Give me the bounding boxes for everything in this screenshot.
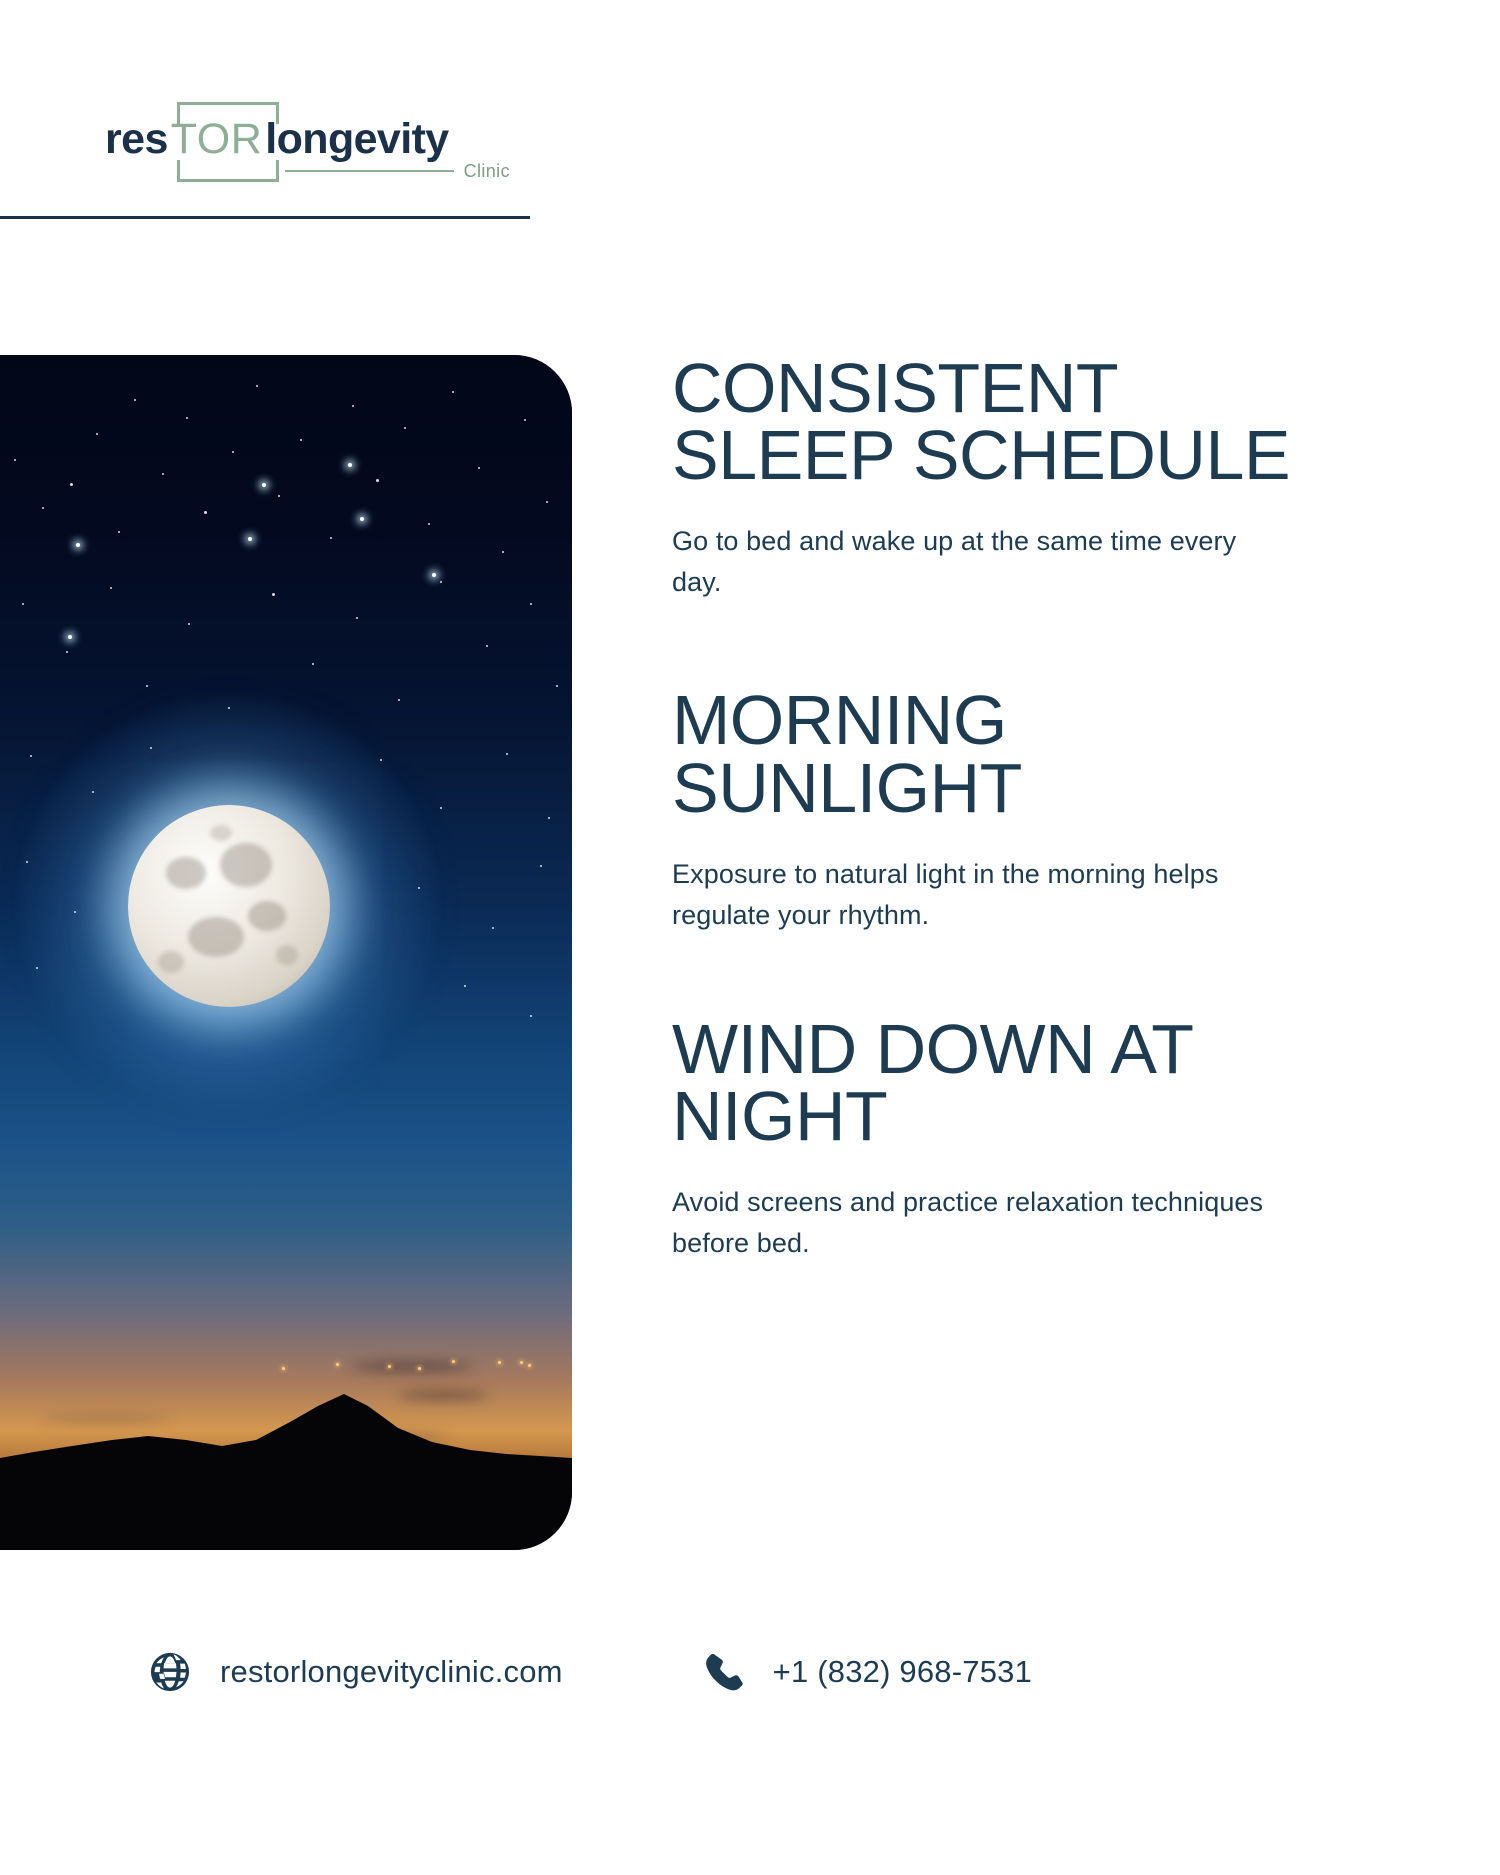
logo-subtitle: Clinic — [464, 161, 510, 182]
spacer-1 — [672, 603, 1312, 687]
header: resTORlongevity Clinic — [0, 0, 530, 225]
tip-section-3: WIND DOWN AT NIGHT Avoid screens and pra… — [672, 1016, 1312, 1264]
tip-title-2: MORNING SUNLIGHT — [672, 687, 1312, 821]
tip-title-1: CONSISTENT SLEEP SCHEDULE — [672, 355, 1312, 489]
phone-icon — [701, 1650, 745, 1694]
logo-bracket-bottom-icon — [177, 160, 279, 182]
mountain-silhouette — [0, 1310, 572, 1550]
logo-subtitle-row: Clinic — [285, 158, 510, 184]
tip-body-1: Go to bed and wake up at the same time e… — [672, 521, 1272, 603]
tip-section-2: MORNING SUNLIGHT Exposure to natural lig… — [672, 687, 1312, 935]
tip-body-2: Exposure to natural light in the morning… — [672, 854, 1272, 936]
tip-title-3: WIND DOWN AT NIGHT — [672, 1016, 1312, 1150]
logo-longevity: longevity — [265, 115, 448, 163]
brand-logo: resTORlongevity Clinic — [105, 96, 505, 186]
tip-section-1: CONSISTENT SLEEP SCHEDULE Go to bed and … — [672, 355, 1312, 603]
poster: resTORlongevity Clinic — [0, 0, 1500, 1875]
header-divider — [0, 216, 530, 219]
moon-icon — [128, 805, 330, 1007]
night-sky-photo — [0, 355, 572, 1550]
logo-wordmark: resTORlongevity — [105, 118, 449, 161]
footer: restorlongevityclinic.com +1 (832) 968-7… — [0, 1612, 1500, 1732]
spacer-2 — [672, 936, 1312, 1016]
logo-tor: TOR — [168, 115, 266, 163]
phone-text: +1 (832) 968-7531 — [773, 1654, 1032, 1690]
website-contact[interactable]: restorlongevityclinic.com — [148, 1650, 563, 1694]
logo-subtitle-rule — [285, 170, 454, 172]
tips-list: CONSISTENT SLEEP SCHEDULE Go to bed and … — [672, 355, 1312, 1264]
globe-icon — [148, 1650, 192, 1694]
phone-contact[interactable]: +1 (832) 968-7531 — [701, 1650, 1032, 1694]
tip-body-3: Avoid screens and practice relaxation te… — [672, 1182, 1272, 1264]
website-text: restorlongevityclinic.com — [220, 1654, 563, 1690]
logo-res: res — [105, 115, 168, 163]
